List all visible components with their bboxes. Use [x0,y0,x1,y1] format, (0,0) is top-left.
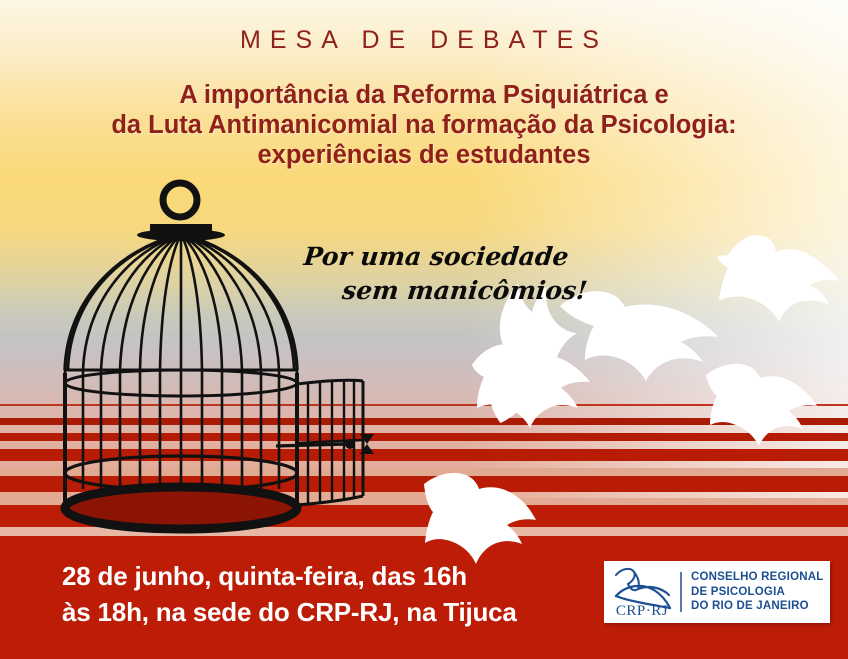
title-line-2: da Luta Antimanicomial na formação da Ps… [0,110,848,140]
event-line-1: 28 de junho, quinta-feira, das 16h [62,558,517,594]
logo-text-line-1: CONSELHO REGIONAL [691,570,823,585]
stripe-1 [0,418,848,425]
stripe-2 [0,433,848,441]
poster-canvas: MESA DE DEBATES A importância da Reforma… [0,0,848,659]
stripe-0 [0,404,848,406]
logo-acronym: CRP·RJ [608,603,676,620]
crp-rj-logo: CRP·RJ CONSELHO REGIONAL DE PSICOLOGIA D… [604,561,830,623]
slogan-line-2: sem manicômios! [292,274,636,308]
stripe-6 [0,498,848,505]
event-line-2: às 18h, na sede do CRP-RJ, na Tijuca [62,594,517,630]
title-line-3: experiências de estudantes [0,140,848,170]
slogan-line-1: Por uma sociedade [296,240,640,274]
kicker-text: MESA DE DEBATES [0,26,848,55]
stripe-4 [0,468,848,476]
page-title: A importância da Reforma Psiquiátrica e … [0,80,848,170]
logo-text-block: CONSELHO REGIONAL DE PSICOLOGIA DO RIO D… [691,570,823,614]
stripe-3 [0,449,848,461]
title-line-1: A importância da Reforma Psiquiátrica e [0,80,848,110]
logo-text-line-3: DO RIO DE JANEIRO [691,599,823,614]
logo-divider [680,572,682,612]
stripe-7 [0,505,848,527]
event-details: 28 de junho, quinta-feira, das 16h às 18… [62,558,517,630]
logo-text-line-2: DE PSICOLOGIA [691,585,823,600]
slogan-text: Por uma sociedade sem manicômios! [292,240,639,308]
stripe-8 [0,527,848,536]
logo-mark: CRP·RJ [604,563,678,621]
stripe-5 [0,476,848,492]
